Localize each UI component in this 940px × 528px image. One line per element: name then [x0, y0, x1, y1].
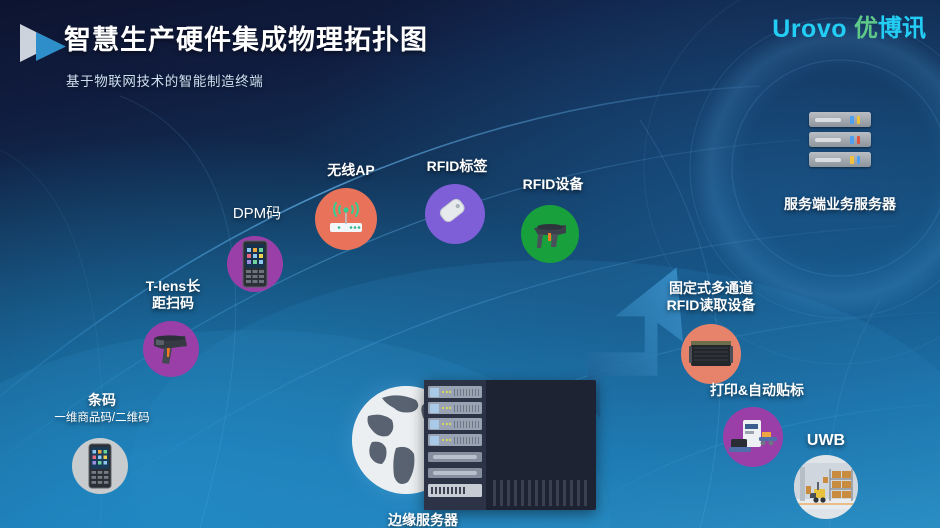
node-business-server-label: 服务端业务服务器: [760, 196, 920, 213]
server-rack-icon: [424, 380, 596, 510]
node-uwb-bubble: [794, 455, 858, 519]
rfid-tag-icon: [434, 193, 476, 235]
node-barcode[interactable]: 条码 一维商品码/二维码: [46, 392, 158, 512]
node-rfid-tag-label: RFID标签: [397, 158, 517, 175]
node-uwb[interactable]: UWB: [778, 432, 874, 528]
warehouse-forklift-icon: [794, 455, 858, 519]
node-rfid-tag[interactable]: RFID标签: [402, 158, 512, 268]
node-uwb-label: UWB: [771, 432, 881, 451]
node-dpm-bubble: [227, 236, 283, 292]
header: 智慧生产硬件集成物理拓扑图 基于物联网技术的智能制造终端 Urovo 优博讯: [0, 0, 940, 100]
node-barcode-sublabel: 一维商品码/二维码: [27, 412, 177, 426]
node-rfid-tag-bubble: [425, 184, 485, 244]
node-barcode-label: 条码: [42, 392, 162, 409]
fixed-rfid-reader-icon: [688, 337, 734, 371]
topology-diagram: 智慧生产硬件集成物理拓扑图 基于物联网技术的智能制造终端 Urovo 优博讯 服…: [0, 0, 940, 528]
long-range-scanner-gun-icon: [149, 328, 193, 370]
node-tlens[interactable]: T-lens长 距扫码: [118, 278, 228, 408]
node-rfid-device-bubble: [521, 205, 579, 263]
rack-server-icon: [809, 112, 871, 172]
brand-name-cn-rest: 博讯: [878, 15, 926, 42]
node-edge-server[interactable]: 边缘服务器: [352, 380, 598, 528]
brand-name-cn: 优博讯: [854, 17, 926, 41]
node-rfid-device-label: RFID设备: [493, 176, 613, 193]
node-tlens-bubble: [143, 321, 199, 377]
node-edge-server-label: 边缘服务器: [352, 512, 494, 528]
node-barcode-bubble: [72, 438, 128, 494]
node-business-server[interactable]: 服务端业务服务器: [762, 112, 918, 232]
node-fixed-rfid-reader-label: 固定式多通道 RFID读取设备: [631, 280, 791, 313]
brand-name-cn-first: 优: [854, 15, 878, 42]
node-wireless-ap-label: 无线AP: [291, 162, 411, 179]
node-rfid-device[interactable]: RFID设备: [498, 176, 608, 286]
node-dpm-label: DPM码: [197, 205, 317, 223]
brand-logo: Urovo 优博讯: [772, 14, 926, 44]
node-wireless-ap-bubble: [315, 188, 377, 250]
page-subtitle: 基于物联网技术的智能制造终端: [66, 70, 263, 90]
node-print-label-label: 打印&自动贴标: [667, 382, 847, 399]
rugged-smartphone-icon: [242, 240, 268, 288]
page-title: 智慧生产硬件集成物理拓扑图: [64, 18, 428, 57]
brand-name-en: Urovo: [772, 17, 847, 42]
node-fixed-rfid-reader-bubble: [681, 324, 741, 384]
globe-server-rack-icon: [352, 380, 598, 512]
node-tlens-label: T-lens长 距扫码: [113, 278, 233, 311]
wifi-router-icon: [323, 199, 369, 239]
rfid-handheld-gun-icon: [528, 214, 572, 254]
handheld-barcode-terminal-icon: [88, 443, 112, 489]
